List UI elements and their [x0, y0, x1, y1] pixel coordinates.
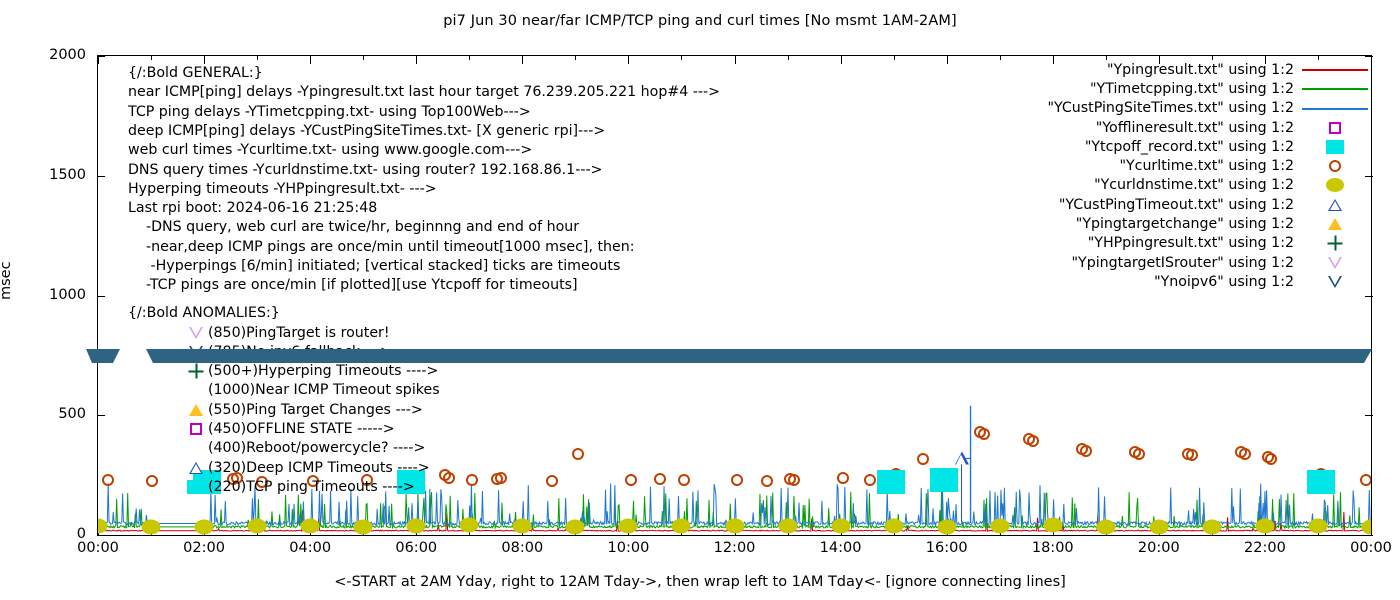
tcp-timeout-square	[930, 468, 958, 492]
anomaly-tri-up-open-icon	[189, 462, 203, 474]
curl-time-circle	[1027, 435, 1039, 447]
anomaly-plus-icon	[189, 364, 204, 379]
legend-tri-up-fill-icon	[1328, 218, 1342, 230]
dns-time-dot	[460, 518, 479, 533]
curl-time-circle	[1133, 448, 1145, 460]
legend-item[interactable]: "Ytcpoff_record.txt" using 1:2	[1027, 137, 1372, 156]
general-line: DNS query times -Ycurldnstime.txt- using…	[128, 163, 602, 177]
legend-line-icon	[1302, 69, 1368, 71]
general-line: deep ICMP[ping] delays -YCustPingSiteTim…	[128, 124, 605, 138]
legend-label: "YpingtargetISrouter" using 1:2	[1072, 255, 1294, 271]
y-tick-label: 1000	[38, 287, 86, 303]
anomaly-line: (220)TCP ping Timeouts ---->	[208, 480, 415, 494]
legend-item[interactable]: "Ycurltime.txt" using 1:2	[1027, 156, 1372, 175]
dns-time-dot	[990, 518, 1009, 533]
general-note: -Hyperpings [6/min] initiated; [vertical…	[146, 259, 620, 273]
dns-time-dot	[672, 518, 691, 533]
dns-time-dot	[884, 519, 903, 534]
legend-label: "YTimetcpping.txt" using 1:2	[1090, 81, 1294, 97]
curl-time-circle	[731, 474, 743, 486]
curl-time-circle	[625, 474, 637, 486]
general-line: TCP ping delays -YTimetcpping.txt- using…	[128, 105, 531, 119]
anomaly-tri-up-fill-icon	[189, 404, 203, 416]
legend-label: "Ypingresult.txt" using 1:2	[1107, 62, 1294, 78]
y-tick-label: 1500	[38, 167, 86, 183]
legend-key	[1298, 253, 1372, 272]
legend-label: "YCustPingSiteTimes.txt" using 1:2	[1047, 100, 1294, 116]
anomaly-line: (400)Reboot/powercycle? ---->	[208, 441, 425, 455]
x-tick-label: 06:00	[395, 540, 437, 556]
chart-root: pi7 Jun 30 near/far ICMP/TCP ping and cu…	[0, 0, 1400, 600]
legend-label: "Yofflineresult.txt" using 1:2	[1096, 120, 1294, 136]
legend-item[interactable]: "Yofflineresult.txt" using 1:2	[1027, 118, 1372, 137]
dns-time-dot	[513, 519, 532, 534]
legend-item[interactable]: "YCustPingSiteTimes.txt" using 1:2	[1027, 99, 1372, 118]
general-line: web curl times -Ycurltime.txt- using www…	[128, 143, 532, 157]
dns-time-dot	[301, 519, 320, 534]
curl-time-circle	[466, 474, 478, 486]
page-title: pi7 Jun 30 near/far ICMP/TCP ping and cu…	[0, 13, 1400, 29]
dns-time-dot	[1043, 518, 1062, 533]
legend-key	[1298, 215, 1372, 234]
legend-sq-fill-icon	[1326, 140, 1344, 154]
deep-timeout-triangle	[955, 452, 969, 465]
x-tick-label: 16:00	[926, 540, 968, 556]
anomaly-line: (450)OFFLINE STATE ----->	[208, 422, 395, 436]
curl-time-circle	[102, 474, 114, 486]
curl-time-circle	[572, 448, 584, 460]
legend-item[interactable]: "Ypingresult.txt" using 1:2	[1027, 60, 1372, 79]
legend-item[interactable]: "YpingtargetISrouter" using 1:2	[1027, 253, 1372, 272]
y-tick-label: 2000	[38, 47, 86, 63]
y-tick-label: 500	[38, 406, 86, 422]
x-tick-label: 04:00	[289, 540, 331, 556]
dns-time-dot	[1096, 519, 1115, 534]
dns-time-dot	[1202, 520, 1221, 535]
curl-time-circle	[678, 474, 690, 486]
x-axis-title: <-START at 2AM Yday, right to 12AM Tday-…	[0, 574, 1400, 590]
legend-key	[1298, 176, 1372, 195]
anomaly-tri-dn-open-icon	[189, 327, 203, 339]
legend-key	[1298, 157, 1372, 176]
anomaly-line: (550)Ping Target Changes --->	[208, 403, 423, 417]
dns-time-dot	[778, 519, 797, 534]
x-tick-label: 18:00	[1032, 540, 1074, 556]
timeout-stem	[962, 458, 971, 521]
curl-time-circle	[837, 472, 849, 484]
curl-time-circle	[654, 473, 666, 485]
legend: "Ypingresult.txt" using 1:2"YTimetcpping…	[1027, 60, 1372, 292]
curl-time-circle	[978, 428, 990, 440]
anomaly-sq-open-icon	[190, 423, 202, 435]
general-note: -near,deep ICMP pings are once/min until…	[146, 240, 635, 254]
x-tick-label: 00:00	[1350, 540, 1392, 556]
general-line: Hyperping timeouts -YHPpingresult.txt- -…	[128, 182, 437, 196]
general-line: near ICMP[ping] delays -Ypingresult.txt …	[128, 85, 720, 99]
anomaly-line: (320)Deep ICMP Timeouts ---->	[208, 461, 430, 475]
dns-time-dot	[1255, 519, 1274, 534]
curl-time-circle	[761, 475, 773, 487]
legend-label: "YCustPingTimeout.txt" using 1:2	[1059, 197, 1294, 213]
tcp-timeout-square	[877, 470, 905, 494]
curl-time-circle	[864, 474, 876, 486]
legend-item[interactable]: "Ynoipv6" using 1:2	[1027, 272, 1372, 291]
dns-time-dot	[142, 520, 161, 535]
legend-sq-open-icon	[1329, 122, 1341, 134]
dns-time-dot	[195, 519, 214, 534]
legend-item[interactable]: "YCustPingTimeout.txt" using 1:2	[1027, 195, 1372, 214]
x-tick-label: 20:00	[1138, 540, 1180, 556]
curl-time-circle	[917, 453, 929, 465]
curl-time-circle	[546, 475, 558, 487]
curl-time-circle	[1239, 448, 1251, 460]
legend-item[interactable]: "YHPpingresult.txt" using 1:2	[1027, 234, 1372, 253]
x-tick-label: 12:00	[714, 540, 756, 556]
general-note: -TCP pings are once/min [if plotted][use…	[146, 278, 578, 292]
status-banner	[86, 347, 1374, 364]
legend-key	[1298, 79, 1372, 98]
curl-time-circle	[443, 472, 455, 484]
legend-key	[1298, 137, 1372, 156]
legend-key	[1298, 118, 1372, 137]
curl-time-circle	[1265, 453, 1277, 465]
anomalies-header: {/:Bold ANOMALIES:}	[128, 306, 280, 320]
dns-time-dot	[354, 519, 373, 534]
general-line: Last rpi boot: 2024-06-16 21:25:48	[128, 201, 377, 215]
legend-ci-fill-icon	[1326, 178, 1344, 192]
legend-label: "Ynoipv6" using 1:2	[1154, 274, 1294, 290]
x-tick-label: 02:00	[183, 540, 225, 556]
curl-time-circle	[146, 475, 158, 487]
legend-item[interactable]: "YTimetcpping.txt" using 1:2	[1027, 79, 1372, 98]
dns-time-dot	[1149, 520, 1168, 535]
legend-tri-dn-open-icon	[1328, 257, 1342, 269]
legend-plus-icon	[1328, 236, 1343, 251]
dns-time-dot	[937, 519, 956, 534]
general-note: -DNS query, web curl are twice/hr, begin…	[146, 220, 579, 234]
legend-line-icon	[1302, 88, 1368, 90]
dns-time-dot	[407, 518, 426, 533]
x-tick-label: 10:00	[608, 540, 650, 556]
legend-label: "Ycurltime.txt" using 1:2	[1119, 158, 1294, 174]
dns-time-dot	[248, 519, 267, 534]
legend-label: "YHPpingresult.txt" using 1:2	[1088, 235, 1294, 251]
legend-item[interactable]: "Ypingtargetchange" using 1:2	[1027, 214, 1372, 233]
legend-label: "Ypingtargetchange" using 1:2	[1076, 216, 1294, 232]
anomaly-line: (500+)Hyperping Timeouts ---->	[208, 364, 438, 378]
curl-time-circle	[1186, 449, 1198, 461]
legend-tri-dn-open-icon	[1328, 276, 1342, 288]
curl-time-circle	[495, 472, 507, 484]
tcp-timeout-square	[1307, 470, 1335, 494]
dns-time-dot	[1308, 519, 1327, 534]
anomaly-line: (1000)Near ICMP Timeout spikes	[208, 383, 440, 397]
dns-time-dot	[566, 519, 585, 534]
x-tick-label: 08:00	[501, 540, 543, 556]
dns-time-dot	[725, 519, 744, 534]
anomaly-line: (850)PingTarget is router!	[208, 326, 390, 340]
curl-time-circle	[1080, 445, 1092, 457]
legend-key	[1298, 60, 1372, 79]
legend-label: "Ycurldnstime.txt" using 1:2	[1094, 177, 1294, 193]
legend-ci-open-icon	[1329, 160, 1341, 172]
legend-item[interactable]: "Ycurldnstime.txt" using 1:2	[1027, 176, 1372, 195]
legend-tri-up-open-icon	[1328, 199, 1342, 211]
legend-key	[1298, 234, 1372, 253]
x-tick-label: 14:00	[820, 540, 862, 556]
x-tick-label: 22:00	[1244, 540, 1286, 556]
dns-time-dot	[619, 519, 638, 534]
legend-key	[1298, 195, 1372, 214]
curl-time-circle	[1360, 474, 1371, 486]
dns-time-dot	[831, 519, 850, 534]
x-tick-label: 00:00	[77, 540, 119, 556]
legend-label: "Ytcpoff_record.txt" using 1:2	[1085, 139, 1294, 155]
y-axis-title: msec	[0, 261, 14, 300]
legend-key	[1298, 99, 1372, 118]
legend-line-icon	[1302, 108, 1368, 110]
curl-time-circle	[788, 474, 800, 486]
anomaly-sq-fill-icon	[187, 480, 205, 494]
legend-key	[1298, 272, 1372, 291]
general-header: {/:Bold GENERAL:}	[128, 66, 263, 80]
